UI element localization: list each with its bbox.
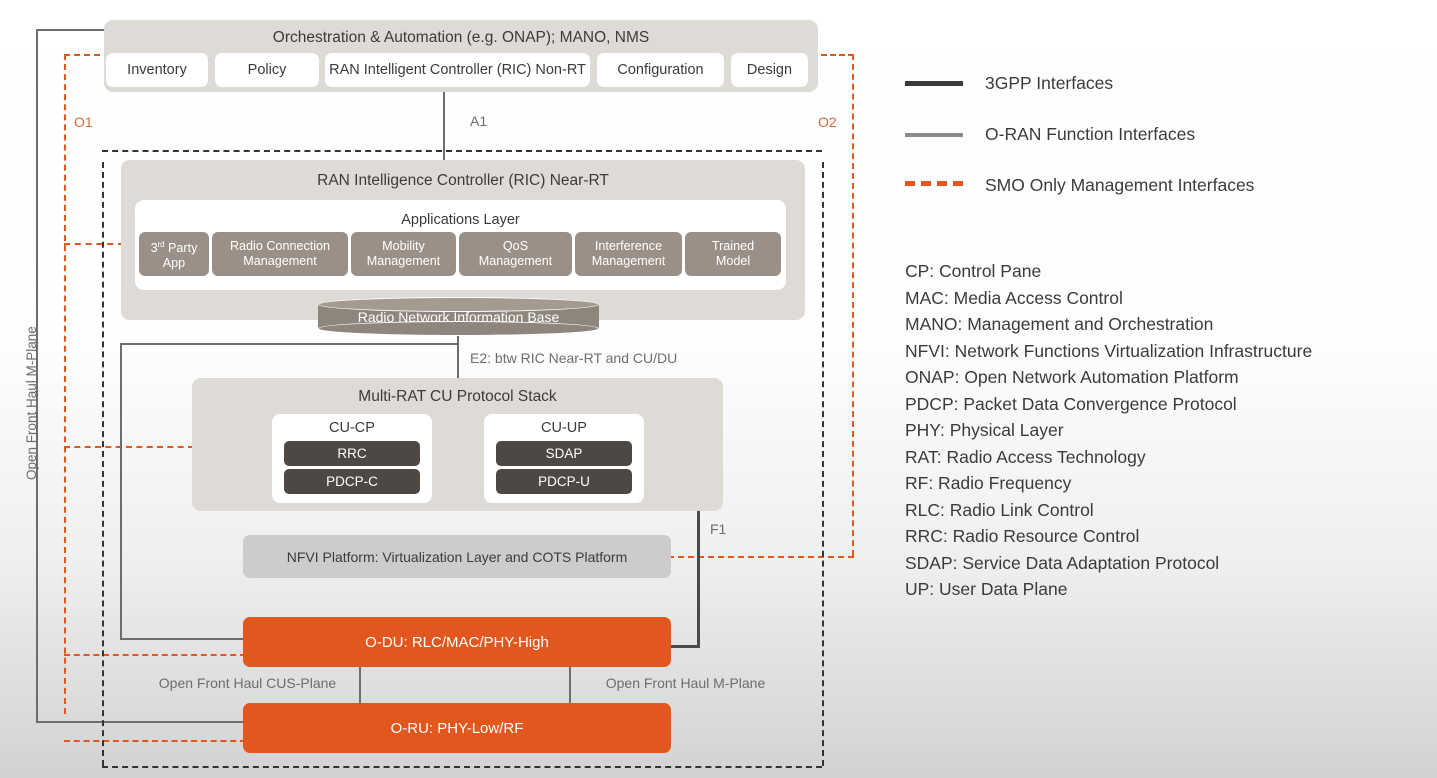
oran-boundary-top-left [102,150,442,152]
legend-item-3gpp: 3GPP Interfaces [905,58,1425,109]
proto-sdap[interactable]: SDAP [496,441,632,466]
proto-rrc[interactable]: RRC [284,441,420,466]
oran-boundary-top-right [446,150,822,152]
front-haul-m-plane-label: Open Front Haul M-Plane [578,675,793,691]
oran-boundary-left [102,162,104,766]
e2-connector-to-odu [120,638,246,640]
nfvi-platform-box[interactable]: NFVI Platform: Virtualization Layer and … [243,535,671,578]
cu-up-title: CU-UP [484,418,644,438]
app-trained-model-label: TrainedModel [712,239,754,269]
front-haul-m-plane-line-top [36,29,108,31]
app-3rd-party-app[interactable]: 3rd PartyApp [139,232,209,276]
abbreviation-item: SDAP: Service Data Adaptation Protocol [905,550,1435,577]
oran-boundary-right [822,162,824,766]
app-trained-model[interactable]: TrainedModel [685,232,781,276]
smo-chip-policy[interactable]: Policy [215,53,319,87]
app-interference-management-label: InterferenceManagement [592,239,666,269]
abbreviation-item: RLC: Radio Link Control [905,497,1435,524]
o1-dashed-vertical [64,54,66,714]
smo-chip-ric-non-rt[interactable]: RAN Intelligent Controller (RIC) Non-RT [325,53,590,87]
legend-item-oran-function: O-RAN Function Interfaces [905,109,1425,160]
smo-chip-configuration[interactable]: Configuration [597,53,724,87]
abbreviation-item: NFVI: Network Functions Virtualization I… [905,338,1435,365]
abbreviation-item: UP: User Data Plane [905,576,1435,603]
app-mobility-management-label: MobilityManagement [367,239,441,269]
legend-swatch-solid-gray-icon [905,133,963,137]
multi-rat-cu-protocol-stack-title: Multi-RAT CU Protocol Stack [192,386,723,408]
legend-label-oran-function: O-RAN Function Interfaces [985,124,1195,145]
oran-boundary-bottom [102,766,822,768]
app-mobility-management[interactable]: MobilityManagement [351,232,456,276]
e2-label: E2: btw RIC Near-RT and CU/DU [470,350,750,366]
app-interference-management[interactable]: InterferenceManagement [575,232,682,276]
abbreviation-item: ONAP: Open Network Automation Platform [905,364,1435,391]
abbreviation-item: RAT: Radio Access Technology [905,444,1435,471]
o2-label: O2 [818,114,858,130]
abbreviation-item: MAC: Media Access Control [905,285,1435,312]
front-haul-cus-plane-label: Open Front Haul CUS-Plane [140,675,355,691]
legend-label-smo-management: SMO Only Management Interfaces [985,175,1254,196]
o-ru-box[interactable]: O-RU: PHY-Low/RF [243,703,671,753]
smo-chip-design[interactable]: Design [731,53,808,87]
abbreviations-list: CP: Control Pane MAC: Media Access Contr… [905,258,1435,603]
app-qos-management-label: QoSManagement [479,239,553,269]
o2-dashed-top [812,54,854,56]
legend-item-smo-management: SMO Only Management Interfaces [905,160,1425,211]
front-haul-cus-connector [359,667,361,703]
applications-layer-title: Applications Layer [135,210,786,230]
o1-dashed-to-cu [64,446,194,448]
app-3rd-party-app-label: 3rd PartyApp [151,237,198,271]
radio-network-information-base[interactable]: Radio Network Information Base [318,297,599,335]
smo-title: Orchestration & Automation (e.g. ONAP); … [104,27,818,49]
front-haul-m-plane-line-bottom [36,721,249,723]
legend-label-3gpp: 3GPP Interfaces [985,73,1113,94]
f1-connector-vertical [697,510,700,648]
proto-pdcp-c[interactable]: PDCP-C [284,469,420,494]
front-haul-m-connector [569,667,571,703]
a1-connector-line [443,87,445,160]
f1-connector-to-odu [668,645,700,648]
o1-dashed-to-ric [64,243,124,245]
cu-cp-title: CU-CP [272,418,432,438]
ric-near-rt-title: RAN Intelligence Controller (RIC) Near-R… [121,170,805,192]
e2-connector-horizontal [120,343,459,345]
a1-label: A1 [470,113,510,129]
app-radio-connection-management-label: Radio ConnectionManagement [230,239,330,269]
radio-network-information-base-label: Radio Network Information Base [318,305,599,329]
abbreviation-item: PDCP: Packet Data Convergence Protocol [905,391,1435,418]
e2-connector-vertical-from-rnib [457,335,459,378]
o1-dashed-to-oru [64,740,246,742]
e2-connector-vertical-left [120,343,122,640]
o1-dashed-to-odu [64,654,246,656]
smo-chip-inventory[interactable]: Inventory [106,53,208,87]
abbreviation-item: PHY: Physical Layer [905,417,1435,444]
app-qos-management[interactable]: QoSManagement [459,232,572,276]
proto-pdcp-u[interactable]: PDCP-U [496,469,632,494]
abbreviation-item: CP: Control Pane [905,258,1435,285]
app-radio-connection-management[interactable]: Radio ConnectionManagement [212,232,348,276]
legend-swatch-solid-dark-icon [905,81,963,86]
legend: 3GPP Interfaces O-RAN Function Interface… [905,58,1425,211]
f1-label: F1 [710,521,750,537]
o1-label: O1 [74,114,114,130]
abbreviation-item: RRC: Radio Resource Control [905,523,1435,550]
abbreviation-item: MANO: Management and Orchestration [905,311,1435,338]
front-haul-m-plane-vertical-label: Open Front Haul M-Plane [24,280,44,480]
abbreviation-item: RF: Radio Frequency [905,470,1435,497]
o-du-box[interactable]: O-DU: RLC/MAC/PHY-High [243,617,671,667]
o2-dashed-to-nfvi [668,556,854,558]
legend-swatch-dashed-orange-icon [905,181,963,191]
